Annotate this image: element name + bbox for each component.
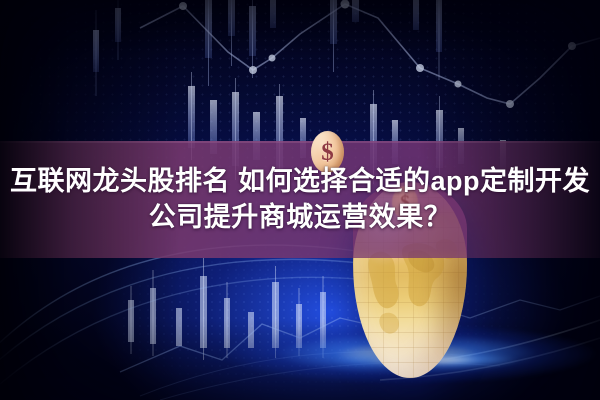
dollar-sign-glyph: $ [321, 140, 334, 165]
dollar-coin-icon: $ [311, 131, 344, 173]
globe-shadow [417, 194, 467, 374]
banner-image: $ $ 互联网龙头股排名 如何选择合适的app定制开发 公司提升商城运营效果？ [0, 0, 600, 400]
dollar-coin-secondary-icon: $ [392, 186, 418, 219]
dollar-sign-glyph-secondary: $ [392, 186, 418, 219]
